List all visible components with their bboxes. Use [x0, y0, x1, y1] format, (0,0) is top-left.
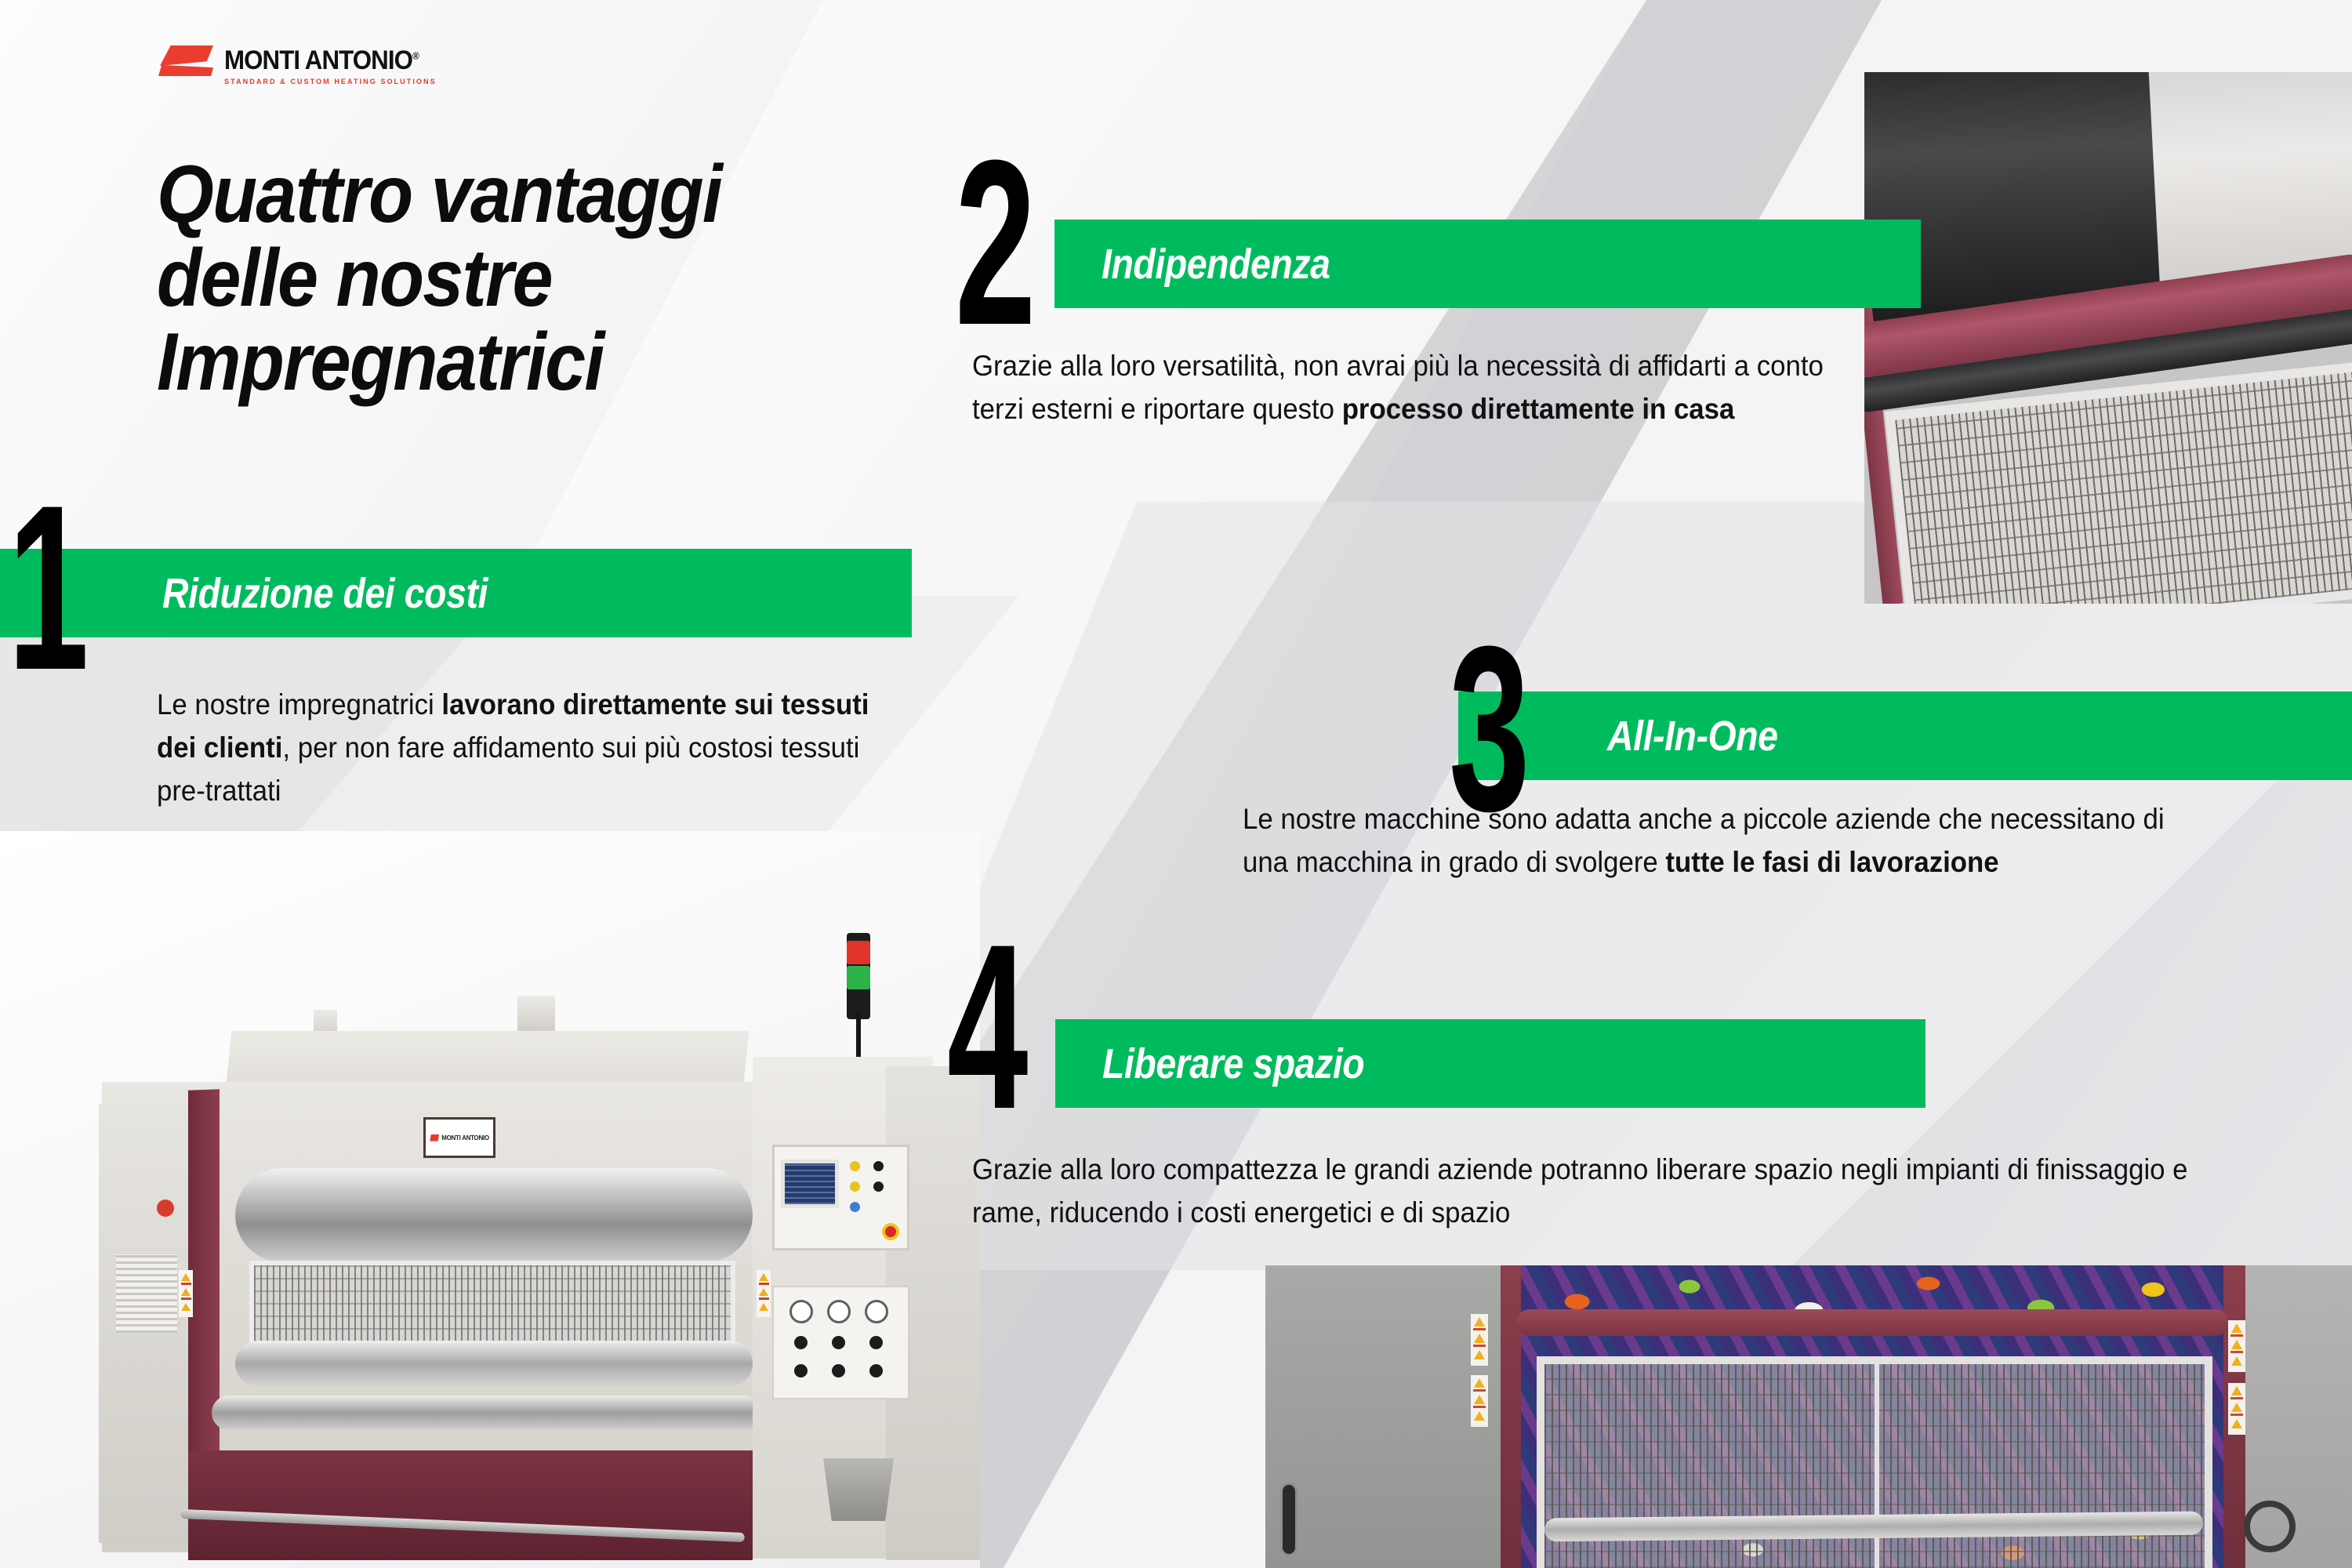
item-title-bar-2: Indipendenza	[1054, 220, 1921, 308]
item-title-3: All-In-One	[1607, 712, 1778, 760]
brand-name: MONTI ANTONIO®	[224, 47, 427, 74]
item-number-4: 4	[947, 935, 1024, 1118]
item-number-2: 2	[955, 151, 1032, 334]
item-number-1: 1	[8, 495, 85, 679]
item-body-3: Le nostre macchine sono adatta anche a p…	[1243, 798, 2201, 884]
brand-logo: MONTI ANTONIO® STANDARD & CUSTOM HEATING…	[160, 45, 445, 86]
item-title-2: Indipendenza	[1102, 240, 1330, 289]
registered-mark: ®	[412, 50, 419, 62]
item-title-bar-3: All-In-One	[1458, 691, 2352, 780]
page-title: Quattro vantaggi delle nostre Impregnatr…	[157, 153, 862, 405]
item-number-3: 3	[1449, 637, 1526, 820]
item-title-1: Riduzione dei costi	[162, 569, 488, 618]
item-title-bar-4: Liberare spazio	[1055, 1019, 1926, 1108]
brand-name-text: MONTI ANTONIO	[224, 45, 412, 75]
item-body-2: Grazie alla loro versatilità, non avrai …	[972, 345, 1857, 431]
monti-antonio-mark-icon	[160, 45, 213, 75]
content-layer: MONTI ANTONIO® STANDARD & CUSTOM HEATING…	[0, 0, 2352, 1568]
item-title-bar-1: Riduzione dei costi	[0, 549, 912, 637]
item-title-4: Liberare spazio	[1102, 1040, 1364, 1088]
brand-tagline: STANDARD & CUSTOM HEATING SOLUTIONS	[224, 78, 437, 86]
item-body-1: Le nostre impregnatrici lavorano diretta…	[157, 684, 894, 812]
item-body-4: Grazie alla loro compattezza le grandi a…	[972, 1149, 2195, 1235]
